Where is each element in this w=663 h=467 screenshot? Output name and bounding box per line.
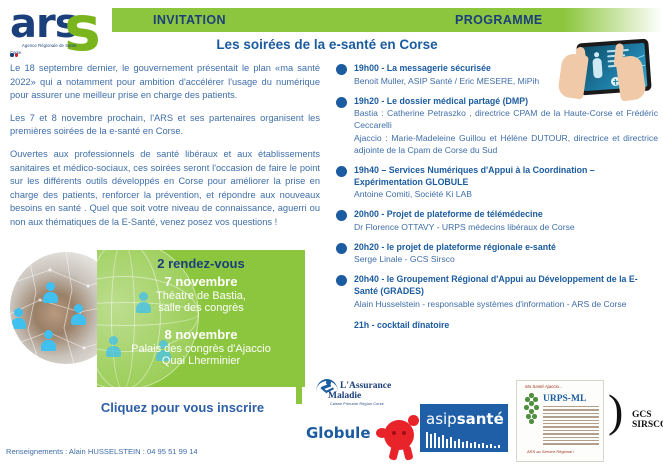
ars-logo-subtitle: Agence Régionale de Santé <box>22 43 77 48</box>
intro-text-block: Le 18 septembre dernier, le gouvernement… <box>10 62 320 239</box>
programme-item: 19h40 – Services Numériques d'Appui à la… <box>336 164 658 201</box>
programme-item: 20h40 - le Groupement Régional d'Appui a… <box>336 273 658 310</box>
programme-item: 20h20 - le projet de plateforme régional… <box>336 241 658 266</box>
user-avatar-icon <box>44 330 56 351</box>
assurance-maladie-line-1: L'Assurance <box>340 381 391 391</box>
urps-bottom-text: ARS au Service Régional ! <box>527 449 574 454</box>
grape-icon <box>523 393 539 427</box>
register-link[interactable]: Cliquez pour vous inscrire <box>60 400 305 415</box>
venue-1-line-1: Théatre de Bastia, <box>97 290 305 302</box>
programme-list: 19h00 - La messagerie sécurisée Benoit M… <box>336 62 658 330</box>
programme-item: 19h20 - Le dossier médical partagé (DMP)… <box>336 95 658 156</box>
programme-item-title: 20h20 - le projet de plateforme régional… <box>354 241 658 253</box>
intro-paragraph-2: Les 7 et 8 novembre prochain, l'ARS et s… <box>10 112 320 139</box>
programme-item-title: 20h00 - Projet de plateforme de téléméde… <box>354 208 658 220</box>
asip-label: asipsanté <box>426 410 504 428</box>
dates-text-block: 2 rendez-vous 7 novembre Théatre de Bast… <box>97 250 305 367</box>
asip-part-1: asip <box>426 410 457 428</box>
venue-2-line-1: Palais des congrès d'Ajaccio <box>97 343 305 355</box>
header-programme-label: PROGRAMME <box>455 13 543 27</box>
programme-item-desc: Alain Husselstein - responsable systèmes… <box>354 298 658 310</box>
urps-label: URPS-ML <box>543 394 586 404</box>
dates-box: 2 rendez-vous 7 novembre Théatre de Bast… <box>97 250 305 387</box>
partner-logos: L'Assurance Maladie Caisse Primaire Régi… <box>304 376 660 464</box>
user-avatar-icon <box>14 308 26 329</box>
partner-logo-globule: Globule <box>306 416 426 462</box>
green-accent-stub <box>296 378 302 404</box>
asip-part-2: santé <box>457 410 504 428</box>
programme-item-desc-2: Ajaccio : Marie-Madeleine Guillou et Hél… <box>354 132 658 156</box>
intro-paragraph-1: Le 18 septembre dernier, le gouvernement… <box>10 62 320 103</box>
urps-text-lines <box>543 406 599 447</box>
globule-blob-icon <box>384 420 414 450</box>
programme-item-title: 20h40 - le Groupement Régional d'Appui a… <box>354 273 658 297</box>
partner-logo-asip-sante: asipsanté <box>420 404 508 452</box>
dates-heading: 2 rendez-vous <box>97 256 305 271</box>
programme-item-desc: Antoine Comiti, Société Ki LAB <box>354 188 658 200</box>
venue-1-line-2: salle des congrès <box>97 302 305 314</box>
programme-item-title: 19h20 - Le dossier médical partagé (DMP) <box>354 95 658 107</box>
venue-2-line-2: Quai Lherminier <box>97 355 305 367</box>
page-title: Les soirées de la e-santé en Corse <box>112 37 542 52</box>
header-invitation-label: INVITATION <box>153 13 226 27</box>
user-avatar-icon <box>74 304 86 325</box>
date-2: 8 novembre <box>97 327 305 342</box>
programme-item-desc: Dr Florence OTTAVY - URPS médecins libér… <box>354 221 658 233</box>
user-avatar-icon <box>46 282 58 303</box>
bullet-dot-icon <box>336 210 347 221</box>
ars-logo: ars s Agence Régionale de Santé Corse <box>4 2 112 58</box>
assurance-maladie-line-2: Maladie <box>328 391 361 401</box>
programme-item-desc: Bastia : Catherine Petraszko , directric… <box>354 107 658 131</box>
assurance-maladie-sub: Caisse Primaire Région Corse <box>330 402 384 406</box>
intro-paragraph-3: Ouvertes aux professionnels de santé lib… <box>10 148 320 230</box>
urps-top-text: Ma Santé Ajaccio... <box>525 384 563 389</box>
programme-cocktail: 21h - cocktail dînatoire <box>336 320 658 330</box>
ars-logo-s: s <box>64 0 101 60</box>
ars-logo-region: Corse <box>10 50 21 55</box>
bullet-dot-icon <box>336 243 347 254</box>
gcs-line-2: SIRSCO <box>632 420 663 430</box>
programme-item-desc: Serge Linale - GCS Sirsco <box>354 253 658 265</box>
programme-item-title: 19h00 - La messagerie sécurisée <box>354 62 658 74</box>
asip-bars-icon <box>426 432 502 448</box>
bullet-dot-icon <box>336 166 347 177</box>
bullet-dot-icon <box>336 97 347 108</box>
gcs-swirl-icon: ) <box>608 388 623 434</box>
bullet-dot-icon <box>336 275 347 286</box>
partner-logo-urps-ml: Ma Santé Ajaccio... URPS-ML ARS au Servi… <box>516 380 604 462</box>
bullet-dot-icon <box>336 64 347 75</box>
programme-item: 19h00 - La messagerie sécurisée Benoit M… <box>336 62 658 87</box>
date-1: 7 novembre <box>97 274 305 289</box>
gcs-line-1: GCS <box>632 410 652 420</box>
programme-item-desc: Benoit Muller, ASIP Santé / Eric MESERE,… <box>354 75 658 87</box>
programme-item-title: 19h40 – Services Numériques d'Appui à la… <box>354 164 658 188</box>
ars-logo-flag-icon <box>10 44 18 48</box>
globule-label: Globule <box>306 424 371 442</box>
programme-item: 20h00 - Projet de plateforme de téléméde… <box>336 208 658 233</box>
contact-info: Renseignements : Alain HUSSELSTEIN : 04 … <box>6 447 198 456</box>
invitation-flyer: ars s Agence Régionale de Santé Corse IN… <box>0 0 663 467</box>
